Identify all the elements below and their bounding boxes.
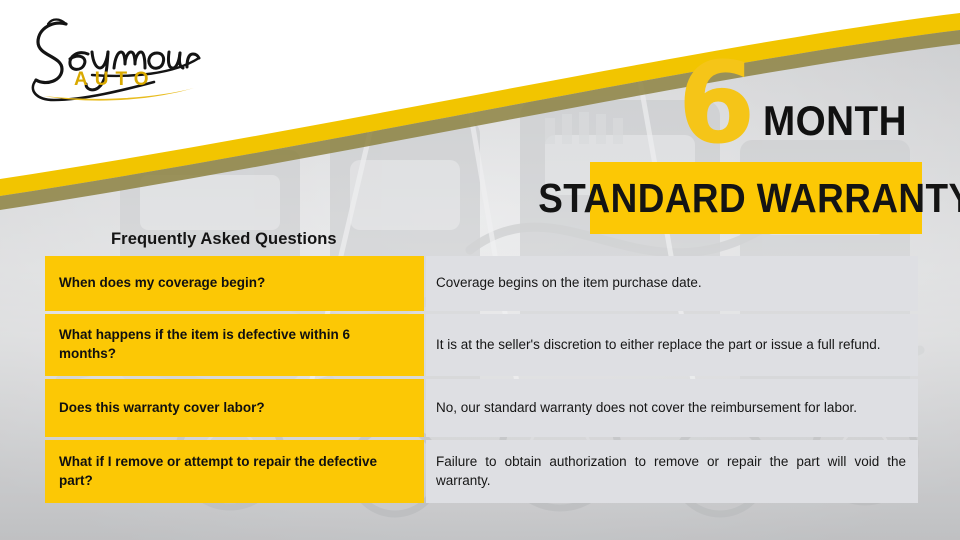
faq-question-text: When does my coverage begin?	[59, 274, 265, 293]
faq-question-cell: What if I remove or attempt to repair th…	[45, 440, 424, 503]
table-row: When does my coverage begin? Coverage be…	[45, 256, 918, 311]
faq-heading: Frequently Asked Questions	[111, 230, 337, 249]
faq-answer-cell: No, our standard warranty does not cover…	[426, 379, 918, 437]
faq-answer-text: No, our standard warranty does not cover…	[436, 399, 906, 418]
faq-question-text: What happens if the item is defective wi…	[59, 326, 410, 363]
seymour-auto-logo: AUTO	[14, 12, 204, 104]
standard-warranty-band: STANDARD WARRANTY	[590, 162, 922, 234]
faq-question-cell: When does my coverage begin?	[45, 256, 424, 311]
standard-warranty-text: STANDARD WARRANTY	[538, 178, 960, 219]
table-row: Does this warranty cover labor? No, our …	[45, 379, 918, 437]
badge-duration: 6 MONTH	[678, 56, 919, 152]
faq-answer-cell: Coverage begins on the item purchase dat…	[426, 256, 918, 311]
table-row: What if I remove or attempt to repair th…	[45, 440, 918, 503]
table-row: What happens if the item is defective wi…	[45, 314, 918, 376]
faq-answer-text: Failure to obtain authorization to remov…	[436, 453, 906, 491]
badge-number: 6	[678, 56, 753, 152]
svg-text:AUTO: AUTO	[74, 69, 155, 90]
faq-answer-cell: Failure to obtain authorization to remov…	[426, 440, 918, 503]
badge-period-label: MONTH	[763, 100, 907, 152]
faq-question-cell: What happens if the item is defective wi…	[45, 314, 424, 376]
warranty-badge: 6 MONTH STANDARD WARRANTY	[590, 56, 922, 236]
faq-question-cell: Does this warranty cover labor?	[45, 379, 424, 437]
faq-question-text: What if I remove or attempt to repair th…	[59, 453, 410, 490]
faq-answer-text: It is at the seller's discretion to eith…	[436, 336, 906, 355]
faq-question-text: Does this warranty cover labor?	[59, 399, 265, 418]
faq-table: When does my coverage begin? Coverage be…	[45, 256, 918, 503]
faq-answer-text: Coverage begins on the item purchase dat…	[436, 274, 906, 293]
slide-canvas: AUTO 6 MONTH STANDARD WARRANTY Frequentl…	[0, 0, 960, 540]
faq-answer-cell: It is at the seller's discretion to eith…	[426, 314, 918, 376]
